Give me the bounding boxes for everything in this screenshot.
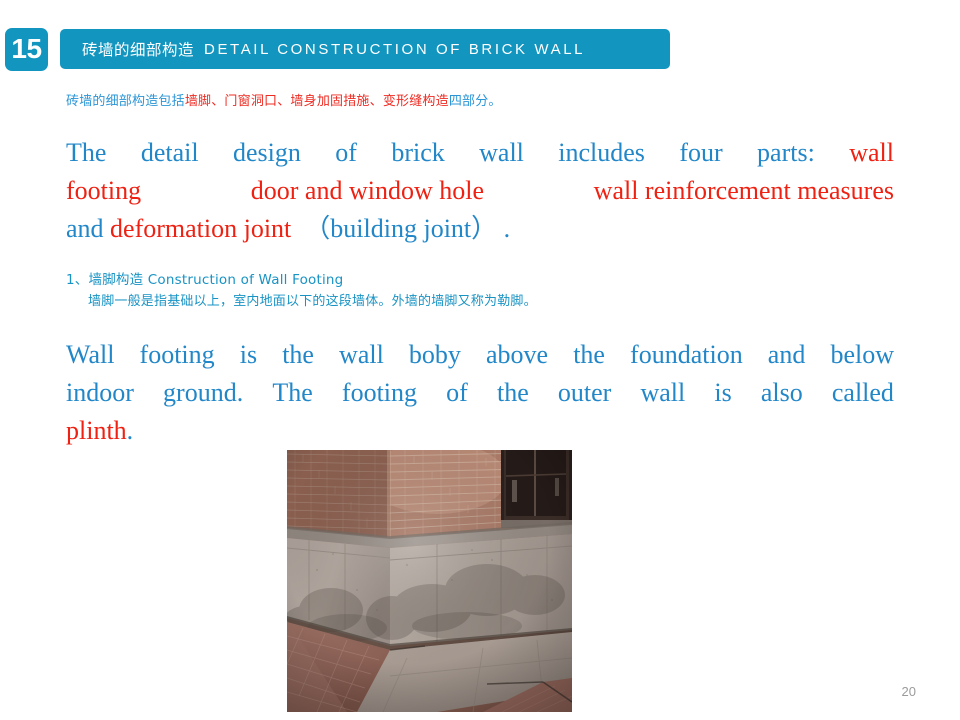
word: the	[573, 336, 605, 374]
paragraph-2-line-1: Wallfootingisthewallbobyabovethefoundati…	[66, 336, 894, 374]
paragraph-2-line-3: plinth.	[66, 412, 894, 450]
chinese-lead-sentence: 砖墙的细部构造包括墙脚、门窗洞口、墙身加固措施、变形缝构造四部分。	[66, 92, 894, 112]
word: above	[486, 336, 548, 374]
wall-footing-photo	[287, 450, 572, 712]
word: also	[761, 374, 803, 412]
word-highlight: deformation joint	[110, 214, 291, 243]
word: and	[66, 214, 104, 243]
word: of	[335, 134, 357, 172]
word: is	[714, 374, 731, 412]
word: .	[127, 416, 134, 445]
word-highlight: door and window hole	[251, 172, 484, 210]
word: design	[233, 134, 301, 172]
paragraph-1-line-3: and deformation joint （building joint） .	[66, 210, 894, 248]
word: Wall	[66, 336, 114, 374]
word: the	[282, 336, 314, 374]
slide-title-chinese: 砖墙的细部构造	[82, 38, 194, 60]
word: foundation	[630, 336, 743, 374]
section-subtext: 墙脚一般是指基础以上，室内地面以下的这段墙体。外墙的墙脚又称为勒脚。	[88, 291, 894, 312]
word: outer	[558, 374, 611, 412]
word: detail	[141, 134, 199, 172]
chinese-lead-part1: 砖墙的细部构造包括	[66, 94, 185, 109]
word: ground.	[163, 374, 243, 412]
word: indoor	[66, 374, 134, 412]
chinese-lead-highlight: 墙脚、门窗洞口、墙身加固措施、变形缝构造	[185, 94, 449, 109]
word: wall	[479, 134, 524, 172]
word-highlight: wall reinforcement measures	[594, 172, 894, 210]
slide-number-badge: 15	[5, 28, 48, 71]
paragraph-1-line-1: Thedetaildesignofbrickwallincludesfourpa…	[66, 134, 894, 172]
word-highlight: footing	[66, 172, 141, 210]
section-heading: 1、墙脚构造 Construction of Wall Footing	[66, 270, 894, 291]
paragraph-2-line-2: indoorground.Thefootingoftheouterwallisa…	[66, 374, 894, 412]
paragraph-1-line-2: footingdoor and window holewall reinforc…	[66, 172, 894, 210]
word: （building joint）	[304, 214, 497, 243]
word: wall	[640, 374, 685, 412]
word: four	[679, 134, 722, 172]
slide-content: 砖墙的细部构造包括墙脚、门窗洞口、墙身加固措施、变形缝构造四部分。 Thedet…	[66, 92, 894, 450]
slide-title-english: DETAIL CONSTRUCTION OF BRICK WALL	[204, 41, 585, 58]
word: .	[504, 214, 511, 243]
word: includes	[558, 134, 645, 172]
word: called	[832, 374, 894, 412]
chinese-lead-part2: 四部分。	[449, 94, 502, 109]
english-paragraph-2: Wallfootingisthewallbobyabovethefoundati…	[66, 336, 894, 450]
word: footing	[342, 374, 417, 412]
word: and	[768, 336, 806, 374]
slide-title-bar: 砖墙的细部构造 DETAIL CONSTRUCTION OF BRICK WAL…	[60, 29, 670, 69]
word: The	[272, 374, 312, 412]
word: footing	[140, 336, 215, 374]
word: is	[240, 336, 257, 374]
word: the	[497, 374, 529, 412]
word: of	[446, 374, 468, 412]
word: The	[66, 134, 106, 172]
word: below	[830, 336, 894, 374]
word-highlight: plinth	[66, 416, 127, 445]
slide-header: 15 砖墙的细部构造 DETAIL CONSTRUCTION OF BRICK …	[0, 27, 670, 71]
word: wall	[339, 336, 384, 374]
page-number: 20	[902, 684, 916, 699]
word: parts:	[757, 134, 815, 172]
word: brick	[391, 134, 444, 172]
word: boby	[409, 336, 461, 374]
photo-illustration	[287, 450, 572, 712]
word-highlight: wall	[849, 134, 894, 172]
english-paragraph-1: Thedetaildesignofbrickwallincludesfourpa…	[66, 134, 894, 248]
